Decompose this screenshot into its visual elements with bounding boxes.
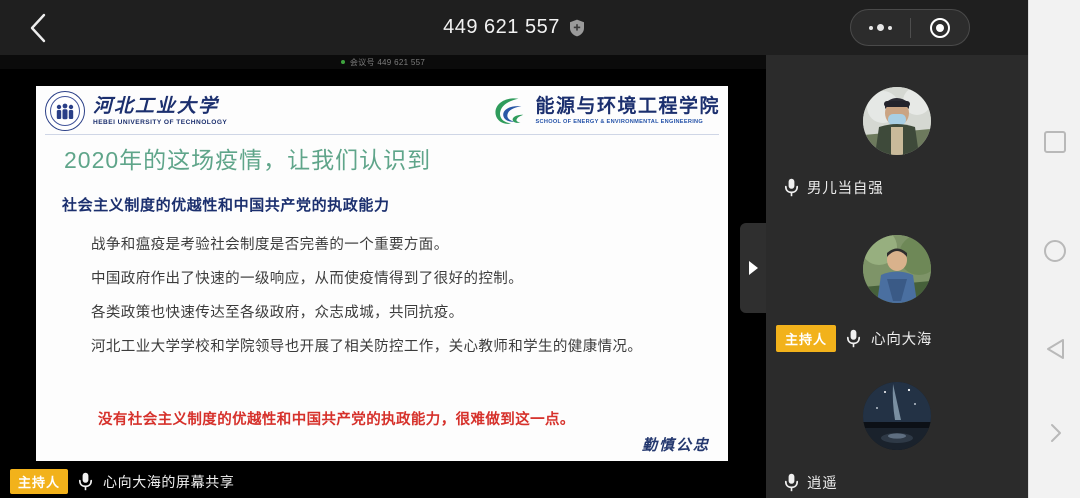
chevron-right-icon[interactable] [1047, 422, 1063, 444]
avatar-photo [863, 87, 931, 155]
panel-collapse-handle[interactable] [740, 223, 766, 313]
share-meeting-tag: 会议号 449 621 557 [0, 55, 766, 69]
school-logo: 能源与环境工程学院 SCHOOL OF ENERGY & ENVIRONMENT… [490, 92, 720, 130]
swirl-logo-icon [490, 92, 528, 130]
square-recents-icon[interactable] [1044, 131, 1066, 153]
screen-share-status-bar: 主持人 心向大海的屏幕共享 [0, 465, 766, 498]
participant-name: 逍遥 [807, 472, 838, 493]
slide-body: 战争和瘟疫是考验社会制度是否完善的一个重要方面。 中国政府作出了快速的一级响应，… [62, 228, 706, 364]
presentation-slide: 河北工业大学 HEBEI UNIVERSITY OF TECHNOLOGY 能源… [36, 86, 728, 461]
android-navigation-bar [1028, 0, 1080, 498]
participant-nameline: 逍遥 [766, 472, 1028, 493]
avatar [863, 87, 931, 155]
circle-home-icon[interactable] [1044, 240, 1066, 262]
participant-name: 男儿当自强 [807, 177, 884, 198]
slide-body-line: 各类政策也快速传达至各级政府，众志成城，共同抗疫。 [62, 296, 706, 330]
microphone-icon [784, 178, 799, 197]
slide-motto: 勤慎公忠 [642, 434, 710, 455]
participant-nameline: 男儿当自强 [766, 177, 1028, 198]
participant-item[interactable]: 主持人 心向大海 [766, 235, 1028, 352]
avatar-photo [863, 235, 931, 303]
microphone-icon [784, 473, 799, 492]
participant-item[interactable]: 男儿当自强 [766, 87, 1028, 198]
participant-item[interactable]: 逍遥 [766, 382, 1028, 493]
avatar [863, 382, 931, 450]
meeting-number: 449 621 557 [443, 16, 560, 39]
triangle-right-icon [747, 260, 759, 276]
record-button[interactable] [911, 10, 970, 45]
university-seal-icon [45, 91, 85, 131]
slide-subtitle: 社会主义制度的优越性和中国共产党的执政能力 [62, 194, 390, 215]
university-logo: 河北工业大学 HEBEI UNIVERSITY OF TECHNOLOGY [45, 91, 227, 131]
avatar [863, 235, 931, 303]
top-bar: 449 621 557 [0, 0, 1028, 55]
slide-conclusion: 没有社会主义制度的优越性和中国共产党的执政能力，很难做到这一点。 [98, 408, 575, 429]
host-badge: 主持人 [10, 469, 68, 494]
slide-body-line: 中国政府作出了快速的一级响应，从而使疫情得到了很好的控制。 [62, 262, 706, 296]
meeting-app: 449 621 557 会议号 449 621 557 [0, 0, 1080, 498]
seal-figures-icon [53, 102, 77, 122]
school-name-cn: 能源与环境工程学院 [535, 97, 720, 116]
share-meeting-tag-label: 会议号 449 621 557 [350, 57, 425, 68]
participant-name: 心向大海 [871, 328, 932, 349]
chevron-left-icon [28, 12, 48, 44]
slide-title: 2020年的这场疫情，让我们认识到 [64, 141, 431, 175]
participant-nameline: 主持人 心向大海 [766, 325, 1028, 352]
header-divider [45, 134, 719, 135]
shared-screen-stage[interactable]: 会议号 449 621 557 [0, 55, 766, 498]
more-button[interactable] [851, 10, 910, 45]
more-dots-icon [869, 24, 892, 31]
slide-body-line: 战争和瘟疫是考验社会制度是否完善的一个重要方面。 [62, 228, 706, 262]
top-right-controls[interactable] [850, 9, 970, 46]
microphone-icon [78, 472, 93, 491]
avatar-photo [863, 382, 931, 450]
status-dot-icon [341, 60, 345, 64]
back-button[interactable] [20, 10, 56, 46]
record-target-icon [930, 18, 950, 38]
school-name-en: SCHOOL OF ENERGY & ENVIRONMENTAL ENGINEE… [535, 120, 720, 126]
triangle-back-icon[interactable] [1045, 338, 1065, 360]
shield-lock-icon [569, 19, 585, 37]
university-name-cn: 河北工业大学 [93, 97, 227, 116]
microphone-icon [846, 329, 861, 348]
screen-share-label: 心向大海的屏幕共享 [103, 472, 234, 492]
participants-panel[interactable]: 男儿当自强 主持人 [766, 55, 1028, 498]
university-name-en: HEBEI UNIVERSITY OF TECHNOLOGY [93, 120, 227, 127]
host-badge: 主持人 [776, 325, 836, 352]
slide-body-line: 河北工业大学学校和学院领导也开展了相关防控工作，关心教师和学生的健康情况。 [62, 330, 706, 364]
